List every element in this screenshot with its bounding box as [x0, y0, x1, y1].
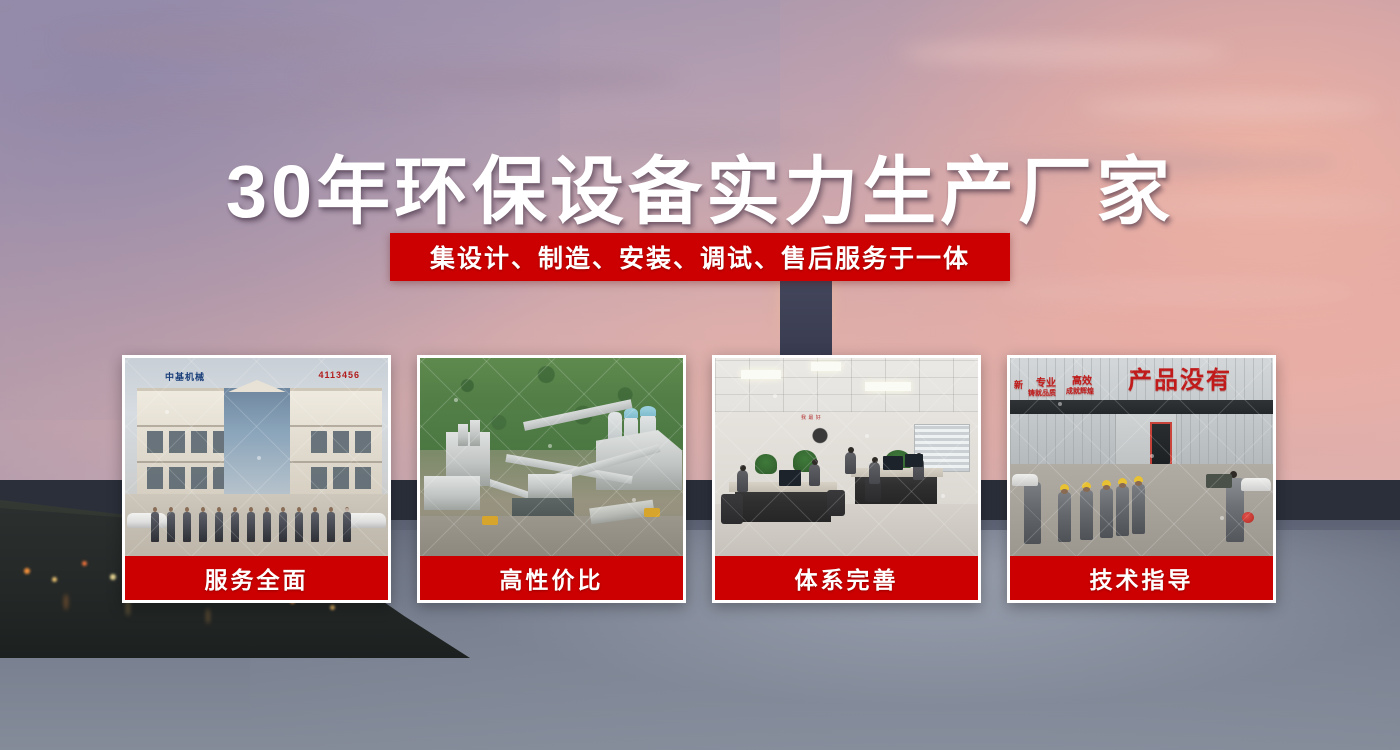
- feature-card-caption: 体系完善: [715, 556, 978, 600]
- feature-card-caption: 技术指导: [1010, 556, 1273, 600]
- feature-card[interactable]: 中基机械 4113456: [122, 355, 391, 603]
- building-sign-text: 中基机械: [165, 370, 205, 383]
- workers-training-photo: 新 专业 铸就品质 高效 成就辉煌 产品没有: [1010, 358, 1273, 556]
- feature-card[interactable]: 我 最 好: [712, 355, 981, 603]
- building-phone-text: 4113456: [318, 370, 360, 380]
- promo-banner: 30年环保设备实力生产厂家 集设计、制造、安装、调试、售后服务于一体: [0, 0, 1400, 750]
- feature-card-caption: 服务全面: [125, 556, 388, 600]
- feature-card-list: 中基机械 4113456: [122, 355, 1282, 603]
- company-headquarters-photo: 中基机械 4113456: [125, 358, 388, 556]
- factory-wall-slogan: 产品没有: [1128, 360, 1232, 395]
- feature-card-caption: 高性价比: [420, 556, 683, 600]
- feature-card[interactable]: 新 专业 铸就品质 高效 成就辉煌 产品没有: [1007, 355, 1276, 603]
- feature-card[interactable]: 高性价比: [417, 355, 686, 603]
- aerial-factory-plant-photo: [420, 358, 683, 556]
- office-interior-photo: 我 最 好: [715, 358, 978, 556]
- subtitle-text: 集设计、制造、安装、调试、售后服务于一体: [430, 239, 970, 275]
- page-title: 30年环保设备实力生产厂家: [0, 132, 1400, 239]
- subtitle-banner: 集设计、制造、安装、调试、售后服务于一体: [390, 233, 1010, 281]
